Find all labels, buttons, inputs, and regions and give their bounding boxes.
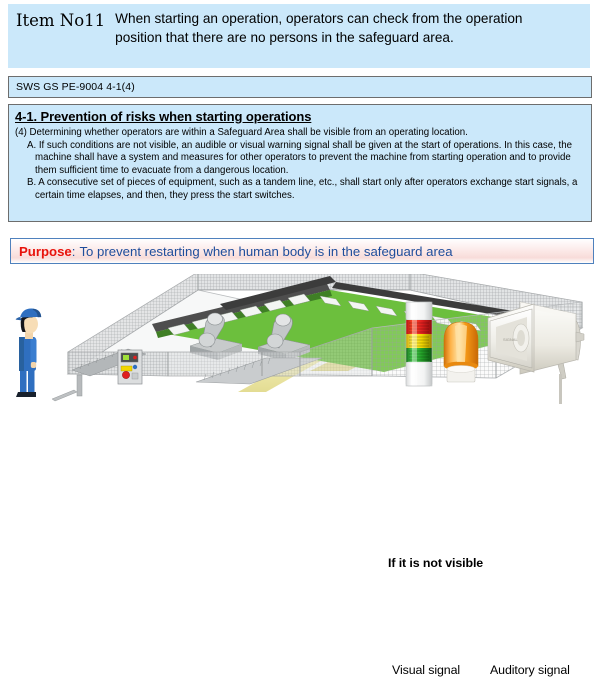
rotating-beacon (444, 322, 478, 382)
item-number-label: Item No11 (16, 10, 115, 30)
visual-signal-caption: Visual signal (392, 663, 460, 677)
clause-item-a: A. If such conditions are not visible, a… (27, 140, 585, 178)
operator-control-panel[interactable] (118, 350, 142, 384)
clause-title: 4-1. Prevention of risks when starting o… (15, 108, 585, 125)
item-statement-text: When starting an operation, operators ca… (115, 10, 555, 47)
clause-item-b: B. A consecutive set of pieces of equipm… (27, 177, 585, 202)
horn-speaker: SIGNAL (488, 302, 584, 404)
reference-code-text: SWS GS PE-9004 4-1(4) (16, 81, 135, 93)
purpose-statement: To prevent restarting when human body is… (75, 244, 452, 259)
worker-figure (16, 308, 42, 397)
purpose-label: Purpose (19, 244, 72, 259)
purpose-panel: Purpose: To prevent restarting when huma… (10, 238, 594, 264)
illustration-svg: SIGNAL (0, 274, 608, 413)
clause-intro-paragraph: (4) Determining whether operators are wi… (15, 127, 585, 140)
svg-text:SIGNAL: SIGNAL (503, 337, 518, 342)
reference-code-panel: SWS GS PE-9004 4-1(4) (8, 76, 592, 98)
signal-tower (406, 302, 432, 386)
not-visible-caption: If it is not visible (388, 556, 483, 570)
clause-panel: 4-1. Prevention of risks when starting o… (8, 104, 592, 222)
illustration-area: SIGNAL If it is not visible Visual signa… (0, 274, 608, 413)
auditory-signal-caption: Auditory signal (490, 663, 570, 677)
item-header-panel: Item No11 When starting an operation, op… (8, 4, 590, 68)
